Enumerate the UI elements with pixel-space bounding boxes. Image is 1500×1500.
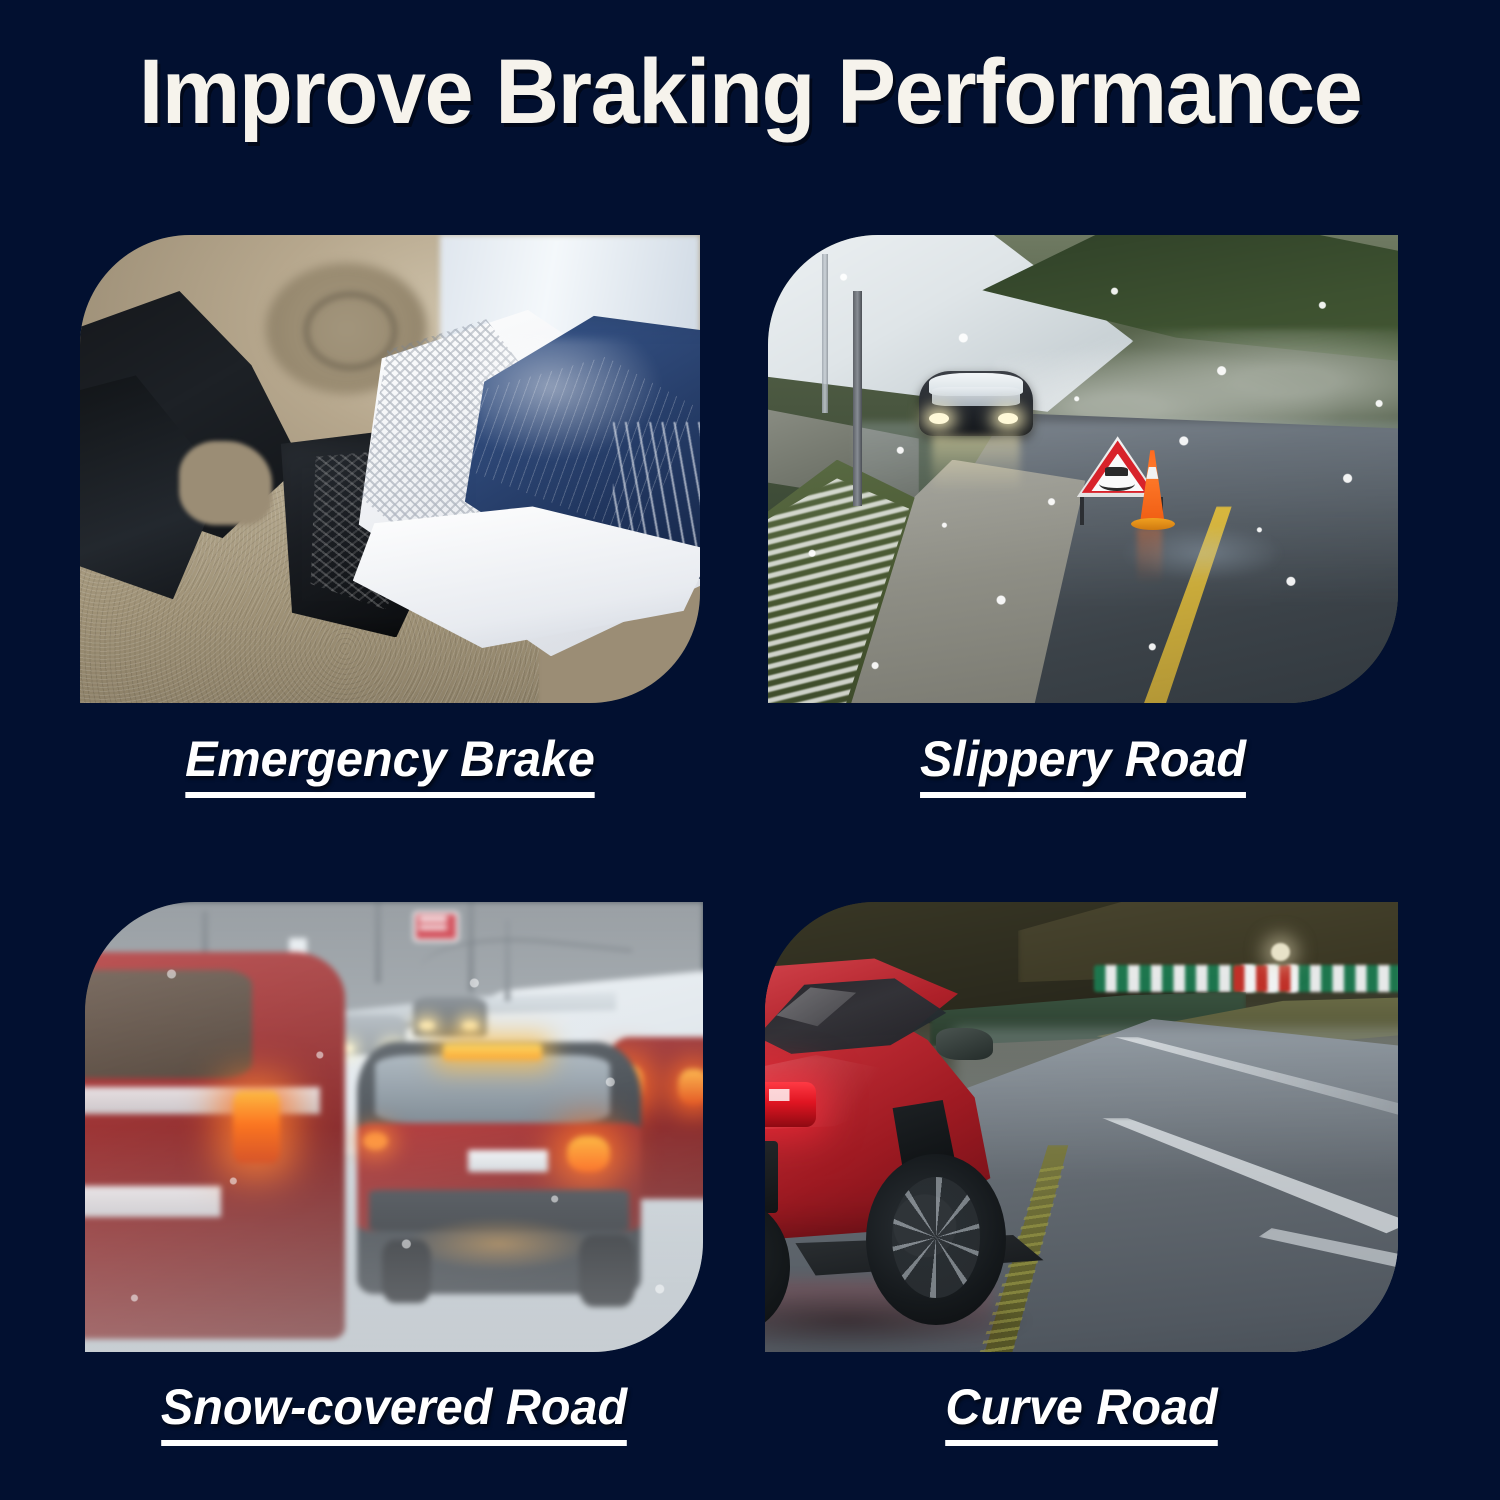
infographic-page: Improve Braking Performance Emergency Br… — [0, 0, 1500, 1500]
snow-haze — [85, 902, 703, 1352]
rear-diffuser-grille — [765, 1141, 778, 1213]
background-light — [1271, 943, 1290, 961]
caption-slippery-road: Slippery Road — [777, 730, 1388, 798]
tail-light-segments — [765, 1089, 797, 1101]
card-snow-covered-road — [85, 902, 703, 1352]
caption-text: Emergency Brake — [185, 730, 595, 798]
photo-curve-road — [765, 902, 1398, 1352]
photo-emergency-brake — [80, 235, 700, 703]
photo-snow-covered-road — [85, 902, 703, 1352]
track-barrier-red-white — [1233, 965, 1296, 992]
pedal-arm-gap — [179, 441, 272, 525]
caption-text: Snow-covered Road — [161, 1378, 627, 1446]
page-title: Improve Braking Performance — [30, 42, 1470, 142]
falling-snow — [768, 235, 1398, 703]
caption-snow-covered-road: Snow-covered Road — [94, 1378, 693, 1446]
car-side-mirror — [936, 1028, 993, 1060]
caption-emergency-brake: Emergency Brake — [89, 730, 690, 798]
photo-slippery-road — [768, 235, 1398, 703]
front-wheel-spokes — [892, 1177, 981, 1299]
caption-curve-road: Curve Road — [774, 1378, 1388, 1446]
card-slippery-road — [768, 235, 1398, 703]
card-emergency-brake — [80, 235, 700, 703]
card-curve-road — [765, 902, 1398, 1352]
caption-text: Slippery Road — [920, 730, 1246, 798]
caption-text: Curve Road — [945, 1378, 1217, 1446]
